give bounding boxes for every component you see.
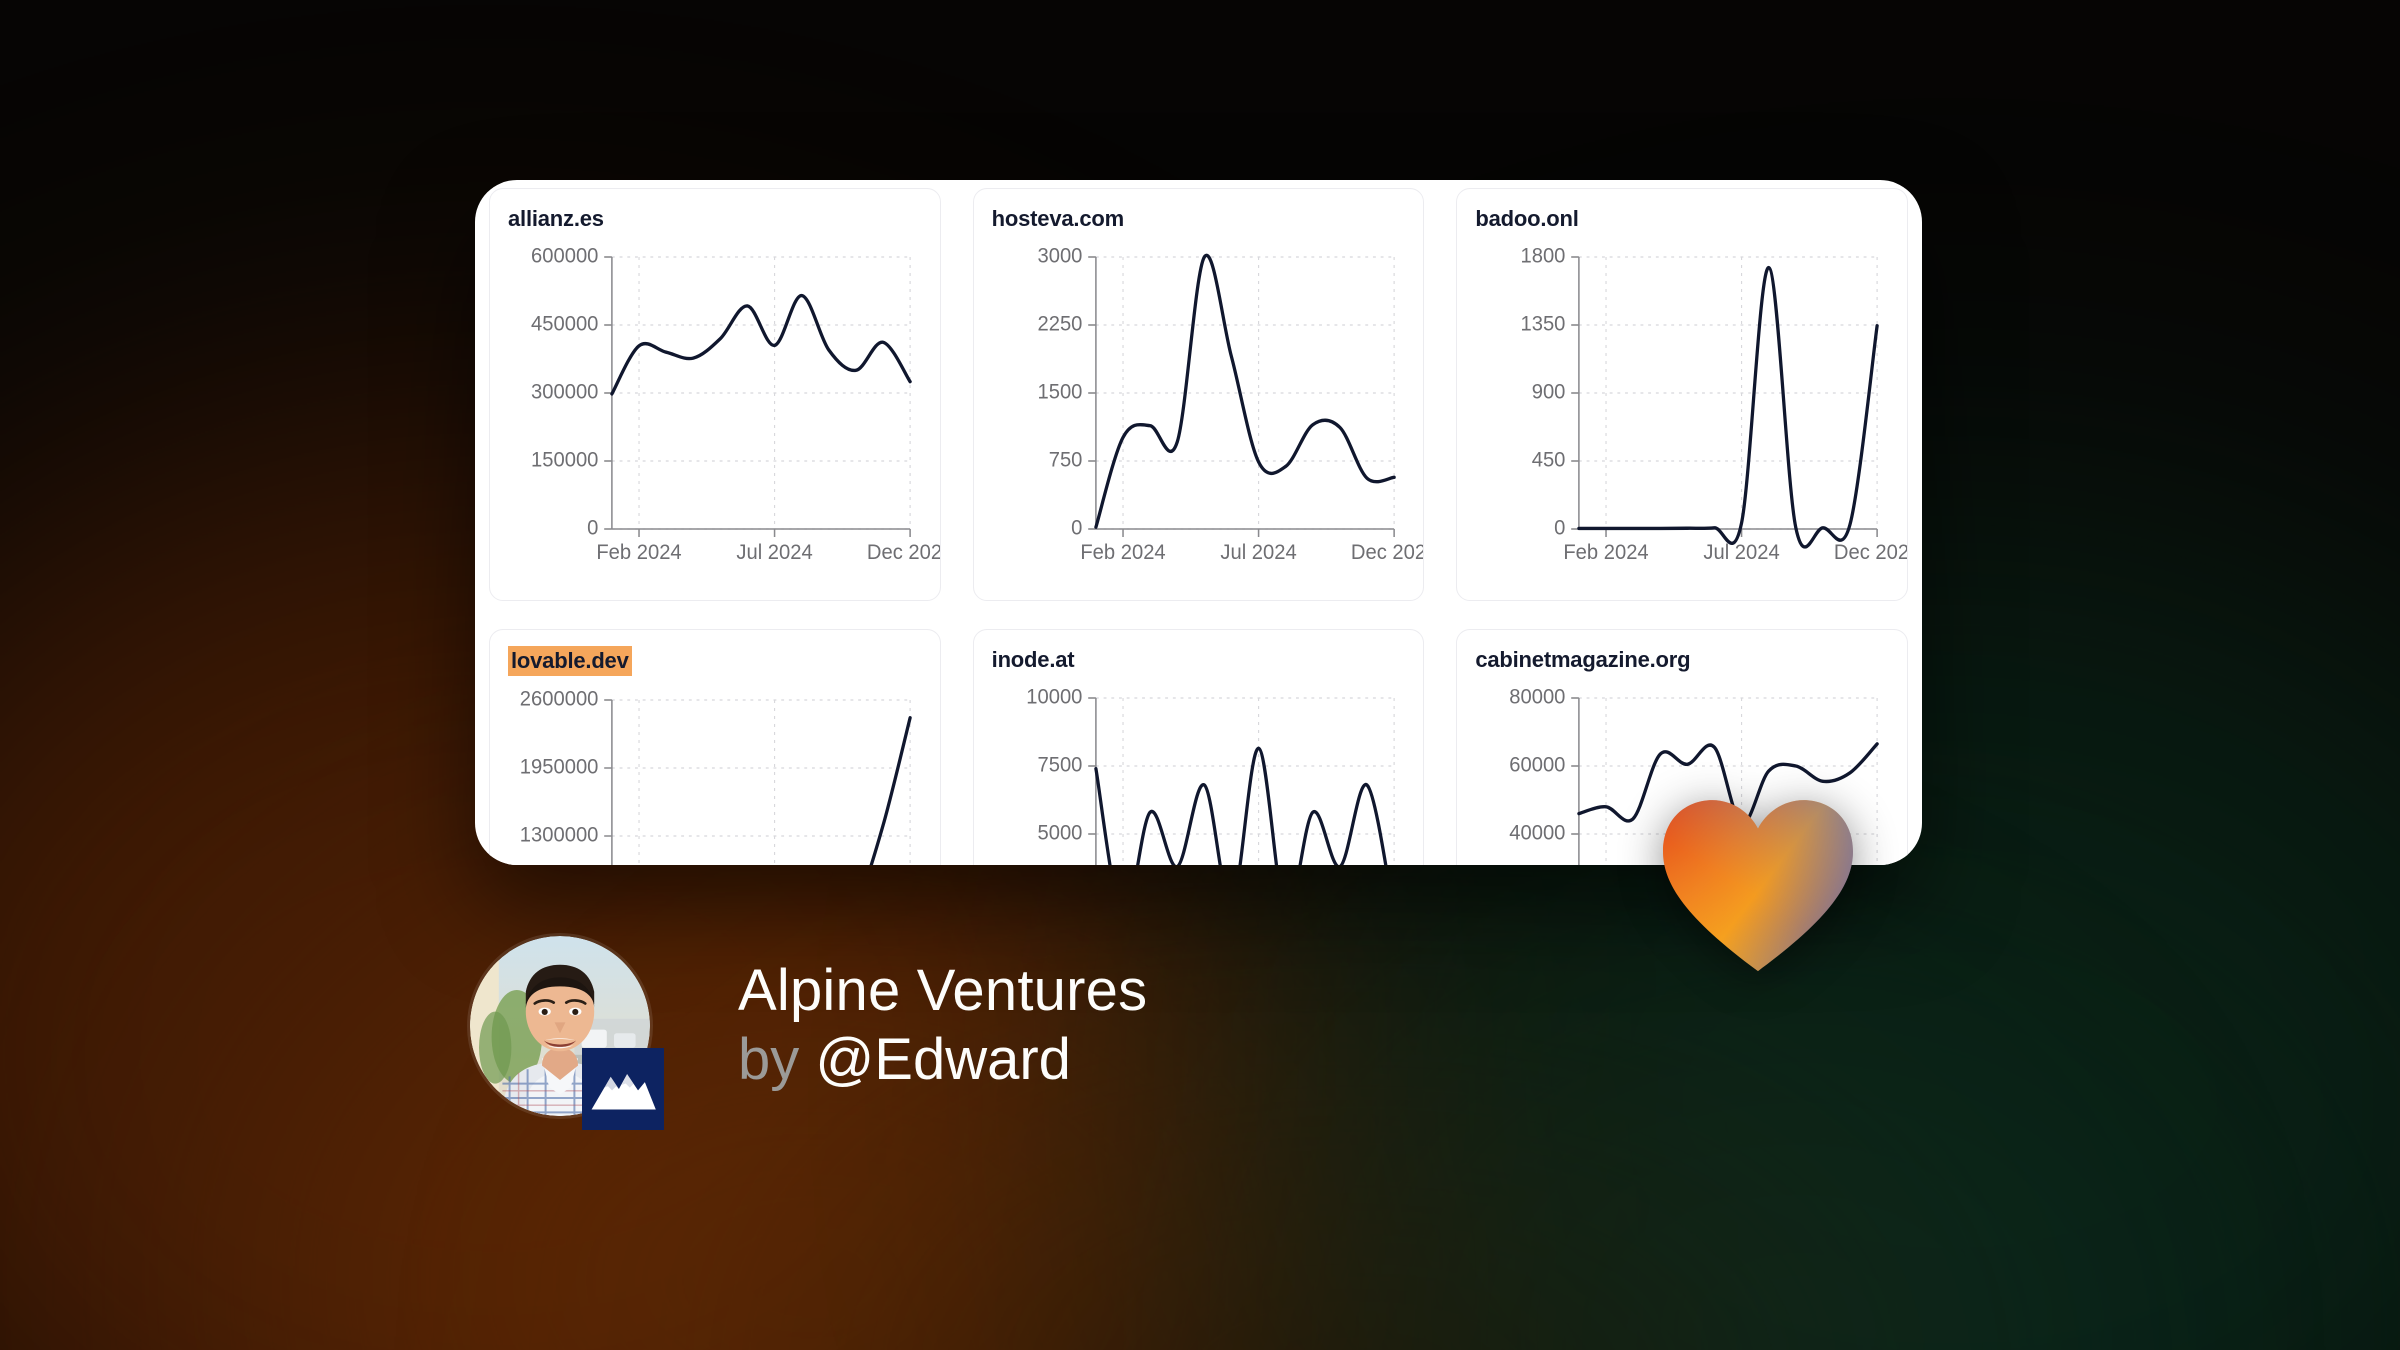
y-tick-label: 80000 <box>1510 685 1566 708</box>
y-tick-label: 2600000 <box>520 687 599 710</box>
chart-plot: 0150000300000450000600000Feb 2024Jul 202… <box>508 247 922 577</box>
author-handle: @Edward <box>815 1027 1071 1092</box>
y-tick-label: 3000 <box>1037 244 1082 267</box>
series-line <box>1579 267 1877 546</box>
avatar <box>470 936 650 1116</box>
y-tick-label: 450 <box>1532 448 1566 471</box>
x-tick-label: Feb 2024 <box>1564 540 1649 563</box>
chart-plot: 25005000750010000Feb 2024Jul 2024Dec 202… <box>992 688 1406 866</box>
y-tick-label: 0 <box>587 516 598 539</box>
y-tick-label: 40000 <box>1510 821 1566 844</box>
dashboard-panel: allianz.es0150000300000450000600000Feb 2… <box>475 180 1922 865</box>
x-tick-label: Dec 2024 <box>1351 540 1425 563</box>
author-line: by @Edward <box>738 1028 1147 1093</box>
y-tick-label: 7500 <box>1037 753 1082 776</box>
chart-title: lovable.dev <box>508 646 632 676</box>
series-line <box>1096 255 1394 527</box>
y-tick-label: 600000 <box>531 244 598 267</box>
y-tick-label: 150000 <box>531 448 598 471</box>
chart-card[interactable]: hosteva.com0750150022503000Feb 2024Jul 2… <box>973 188 1425 601</box>
project-title: Alpine Ventures <box>738 959 1147 1024</box>
y-tick-label: 2250 <box>1037 312 1082 335</box>
y-tick-label: 1500 <box>1037 380 1082 403</box>
y-tick-label: 450000 <box>531 312 598 335</box>
chart-title: hosteva.com <box>992 205 1124 233</box>
heart-icon <box>1663 800 1853 975</box>
y-tick-label: 1950000 <box>520 755 599 778</box>
chart-title: cabinetmagazine.org <box>1475 646 1690 674</box>
chart-card[interactable]: allianz.es0150000300000450000600000Feb 2… <box>489 188 941 601</box>
series-line <box>612 295 910 393</box>
chart-title: inode.at <box>992 646 1075 674</box>
y-tick-label: 60000 <box>1510 753 1566 776</box>
y-tick-label: 0 <box>1555 516 1566 539</box>
y-tick-label: 1800 <box>1521 244 1566 267</box>
x-tick-label: Dec 2024 <box>867 540 941 563</box>
y-tick-label: 10000 <box>1026 685 1082 708</box>
chart-title: badoo.onl <box>1475 205 1578 233</box>
y-tick-label: 300000 <box>531 380 598 403</box>
y-tick-label: 750 <box>1048 448 1082 471</box>
chart-plot: 0750150022503000Feb 2024Jul 2024Dec 2024 <box>992 247 1406 577</box>
x-tick-label: Dec 2024 <box>1834 540 1908 563</box>
chart-card[interactable]: lovable.dev650000130000019500002600000Fe… <box>489 629 941 865</box>
y-tick-label: 1350 <box>1521 312 1566 335</box>
chart-card[interactable]: inode.at25005000750010000Feb 2024Jul 202… <box>973 629 1425 865</box>
x-tick-label: Jul 2024 <box>1220 540 1296 563</box>
byline-text: Alpine Ventures by @Edward <box>738 959 1147 1093</box>
chart-plot: 045090013501800Feb 2024Jul 2024Dec 2024 <box>1475 247 1889 577</box>
chart-card[interactable]: badoo.onl045090013501800Feb 2024Jul 2024… <box>1456 188 1908 601</box>
chart-plot: 650000130000019500002600000Feb 2024Jul 2… <box>508 690 922 866</box>
x-tick-label: Jul 2024 <box>736 540 812 563</box>
mountain-logo-icon <box>582 1048 664 1130</box>
series-line <box>612 717 910 865</box>
author-byline: Alpine Ventures by @Edward <box>470 936 1147 1116</box>
x-tick-label: Jul 2024 <box>1704 540 1780 563</box>
chart-title: allianz.es <box>508 205 604 233</box>
chart-grid: allianz.es0150000300000450000600000Feb 2… <box>475 180 1922 865</box>
y-tick-label: 5000 <box>1037 821 1082 844</box>
y-tick-label: 0 <box>1071 516 1082 539</box>
y-tick-label: 900 <box>1532 380 1566 403</box>
by-label: by <box>738 1027 799 1092</box>
x-tick-label: Feb 2024 <box>1080 540 1165 563</box>
y-tick-label: 1300000 <box>520 823 599 846</box>
x-tick-label: Feb 2024 <box>596 540 681 563</box>
